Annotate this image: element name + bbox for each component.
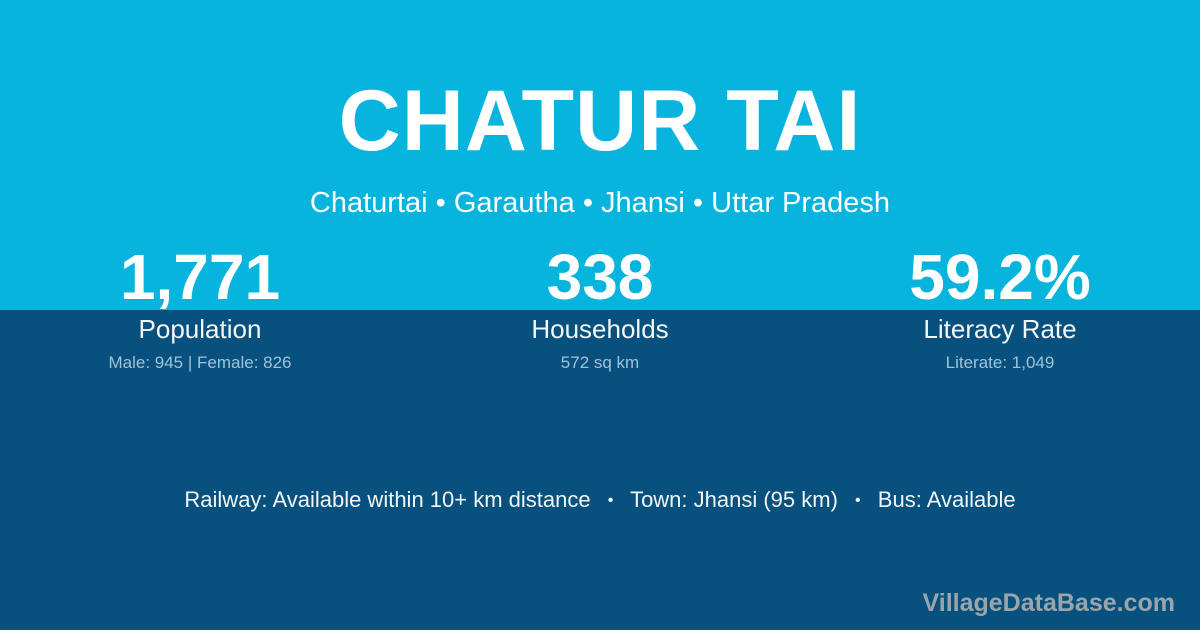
stat-label: Literacy Rate [800, 314, 1200, 344]
infra-railway: Railway: Available within 10+ km distanc… [184, 487, 590, 512]
stat-value: 1,771 [0, 243, 400, 311]
village-info-card: CHATUR TAI Chaturtai • Garautha • Jhansi… [0, 0, 1200, 630]
stat-label: Households [400, 314, 800, 344]
infra-town: Town: Jhansi (95 km) [630, 487, 838, 512]
infra-bus: Bus: Available [878, 487, 1016, 512]
bullet-separator-icon: • [597, 487, 625, 515]
stat-households: 338 Households 572 sq km [400, 243, 800, 373]
stat-value: 338 [400, 243, 800, 311]
stats-row: 1,771 Population Male: 945 | Female: 826… [0, 243, 1200, 373]
bullet-separator-icon: • [844, 487, 872, 515]
card-header: CHATUR TAI Chaturtai • Garautha • Jhansi… [0, 0, 1200, 221]
infrastructure-line: Railway: Available within 10+ km distanc… [0, 486, 1200, 515]
stat-value: 59.2% [800, 243, 1200, 311]
stat-sublabel: Male: 945 | Female: 826 [0, 353, 400, 373]
stat-population: 1,771 Population Male: 945 | Female: 826 [0, 243, 400, 373]
page-title: CHATUR TAI [0, 78, 1200, 164]
stat-sublabel: 572 sq km [400, 353, 800, 373]
stat-literacy-rate: 59.2% Literacy Rate Literate: 1,049 [800, 243, 1200, 373]
stat-label: Population [0, 314, 400, 344]
stat-sublabel: Literate: 1,049 [800, 353, 1200, 373]
breadcrumb: Chaturtai • Garautha • Jhansi • Uttar Pr… [0, 186, 1200, 221]
site-brand: VillageDataBase.com [923, 588, 1175, 618]
